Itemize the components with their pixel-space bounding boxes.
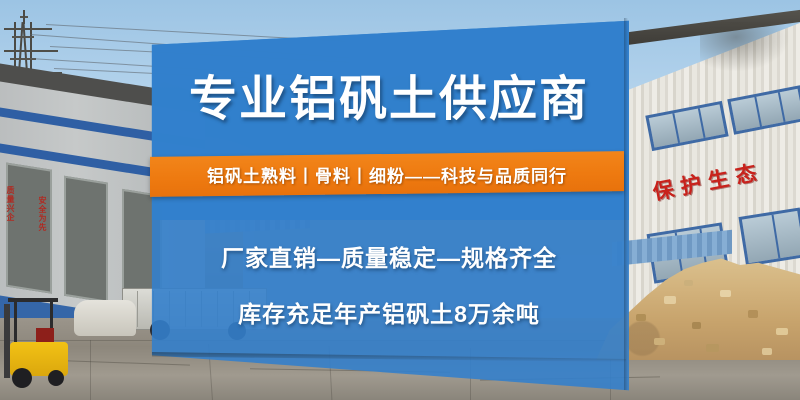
material-sacks: [74, 300, 136, 336]
tagline-bar: 铝矾土熟料丨骨料丨细粉——科技与品质同行: [150, 151, 624, 197]
banner-title: 专业铝矾土供应商: [189, 76, 589, 124]
banner-subtitle-line-2: 库存充足年产铝矾土8万余吨: [238, 295, 540, 329]
tagline-text: 铝矾土熟料丨骨料丨细粉——科技与品质同行: [207, 162, 567, 187]
wall-slogan-left: 安全为先: [38, 196, 47, 232]
banner-subtitle-line-1: 厂家直销—质量稳定—规格齐全: [221, 239, 557, 273]
wall-slogan-left: 质量兴企: [6, 186, 15, 222]
promo-banner: 质量兴企 安全为先: [0, 0, 800, 400]
roof-soot-stain: [700, 22, 790, 72]
yellow-forklift: [4, 298, 74, 386]
roller-door: [64, 176, 108, 303]
banner-content: 专业铝矾土供应商 铝矾土熟料丨骨料丨细粉——科技与品质同行 厂家直销—质量稳定—…: [149, 0, 629, 400]
workshop-window: [738, 207, 800, 266]
